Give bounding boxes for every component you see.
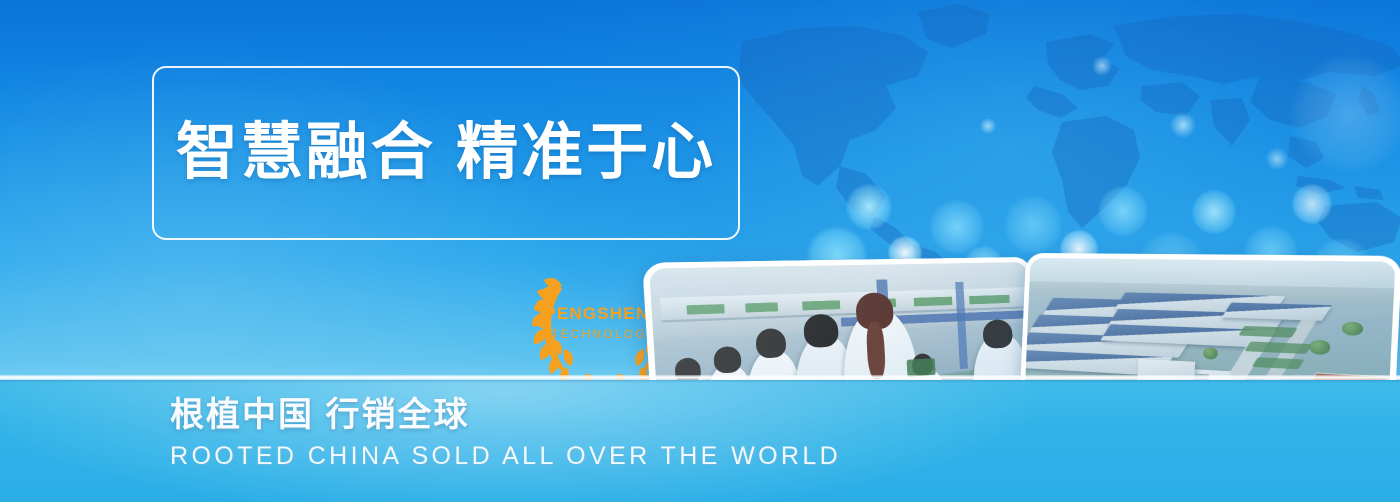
- tagline-english: ROOTED CHINA SOLD ALL OVER THE WORLD: [170, 444, 841, 469]
- section-divider-shadow: [0, 380, 1400, 383]
- tagline-chinese: 根植中国 行销全球: [170, 398, 469, 432]
- headline-frame: 智慧融合 精准于心: [152, 66, 740, 240]
- page-title: 智慧融合 精准于心: [154, 122, 738, 184]
- promo-banner: 智慧融合 精准于心: [0, 0, 1400, 502]
- logo-subtitle: TECHNOLOGY: [551, 328, 657, 340]
